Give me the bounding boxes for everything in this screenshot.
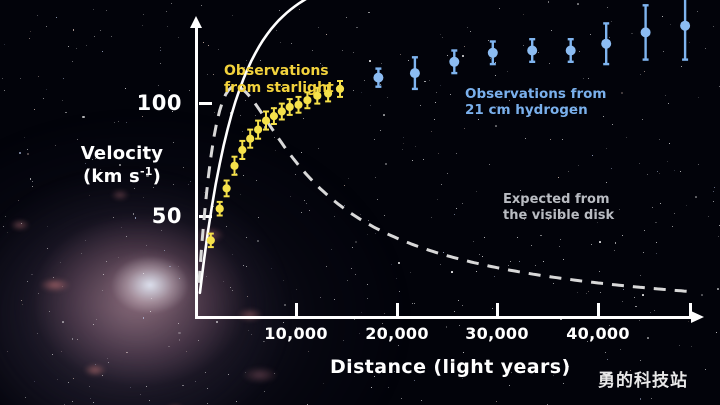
watermark: 勇的科技站 (598, 366, 688, 391)
annotation-hydrogen-line1: Observations from (465, 86, 606, 102)
annotation-expected-visible-disk: Expected from the visible disk (503, 192, 614, 224)
annotation-expected-line1: Expected from (503, 192, 610, 207)
hydrogen-data-points (373, 0, 690, 89)
annotation-expected-line2: the visible disk (503, 208, 614, 223)
annotation-hydrogen-line2: 21 cm hydrogen (465, 102, 588, 118)
annotation-starlight: Observations from starlight (224, 63, 334, 97)
starlight-data-points (207, 81, 344, 247)
annotation-starlight-line1: Observations (224, 63, 329, 79)
plot-area: 100 50 10,000 20,000 30,000 40,000 Veloc… (0, 0, 720, 405)
observed-rotation-curve (200, 0, 693, 293)
annotation-starlight-line2: from starlight (224, 80, 334, 96)
annotation-hydrogen: Observations from 21 cm hydrogen (465, 86, 606, 119)
galaxy-rotation-curve-figure: 100 50 10,000 20,000 30,000 40,000 Veloc… (0, 0, 720, 405)
